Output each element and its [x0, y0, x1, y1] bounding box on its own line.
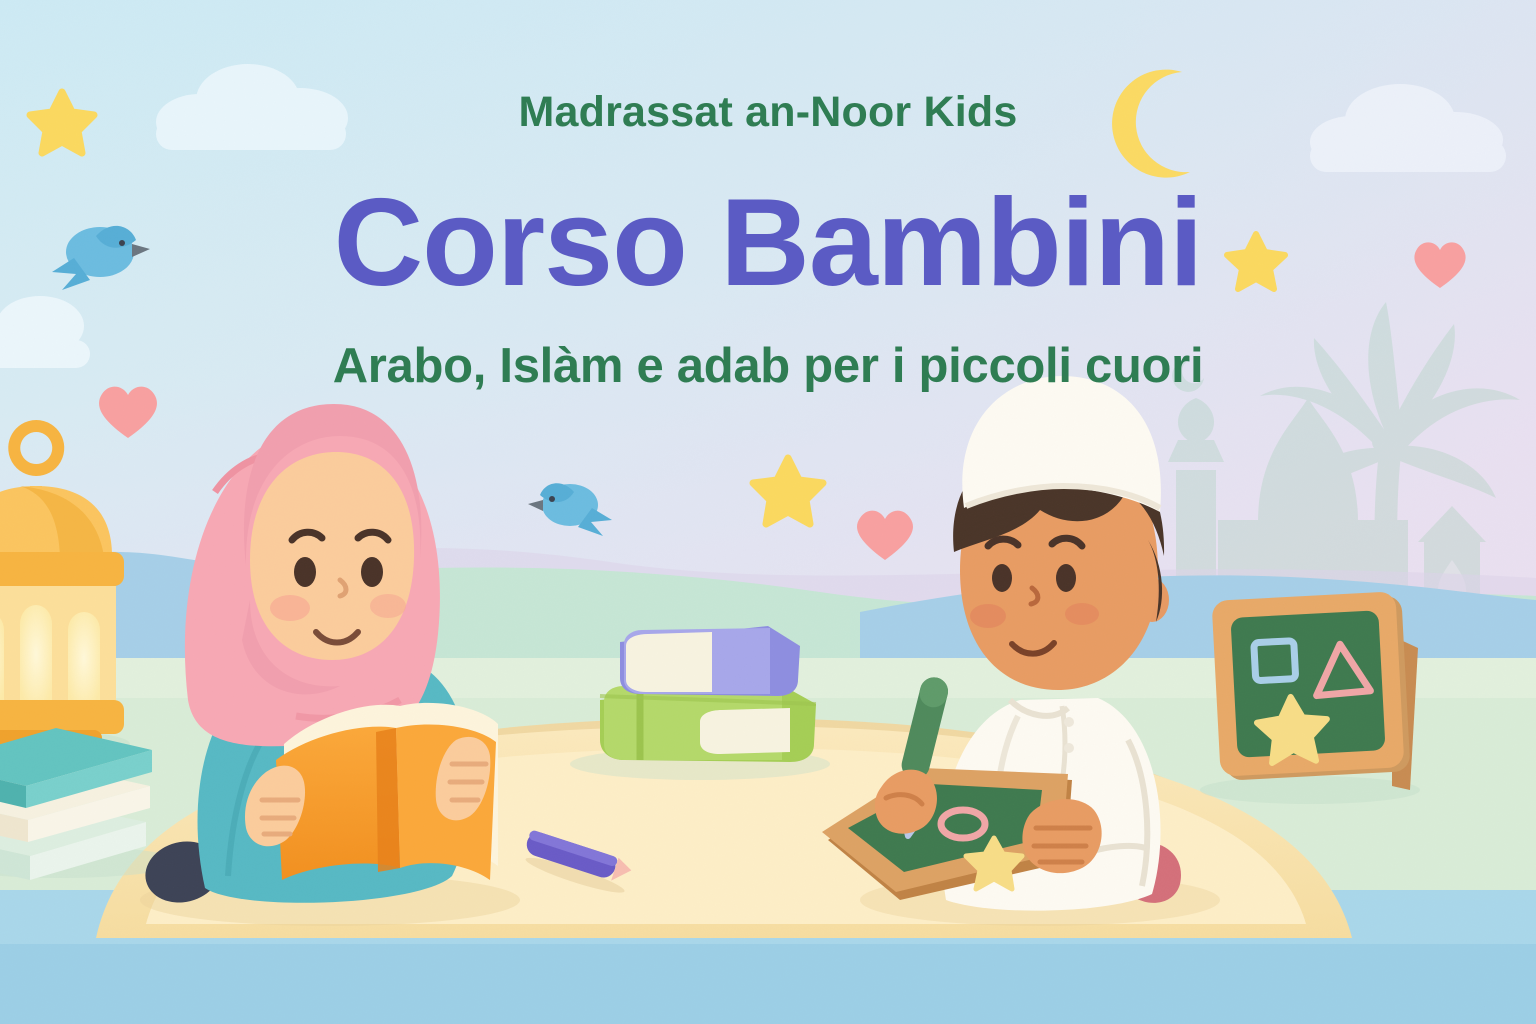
poster-canvas: Madrassat an-Noor Kids Corso Bambini Ara… [0, 0, 1536, 1024]
illustration [0, 0, 1536, 1024]
